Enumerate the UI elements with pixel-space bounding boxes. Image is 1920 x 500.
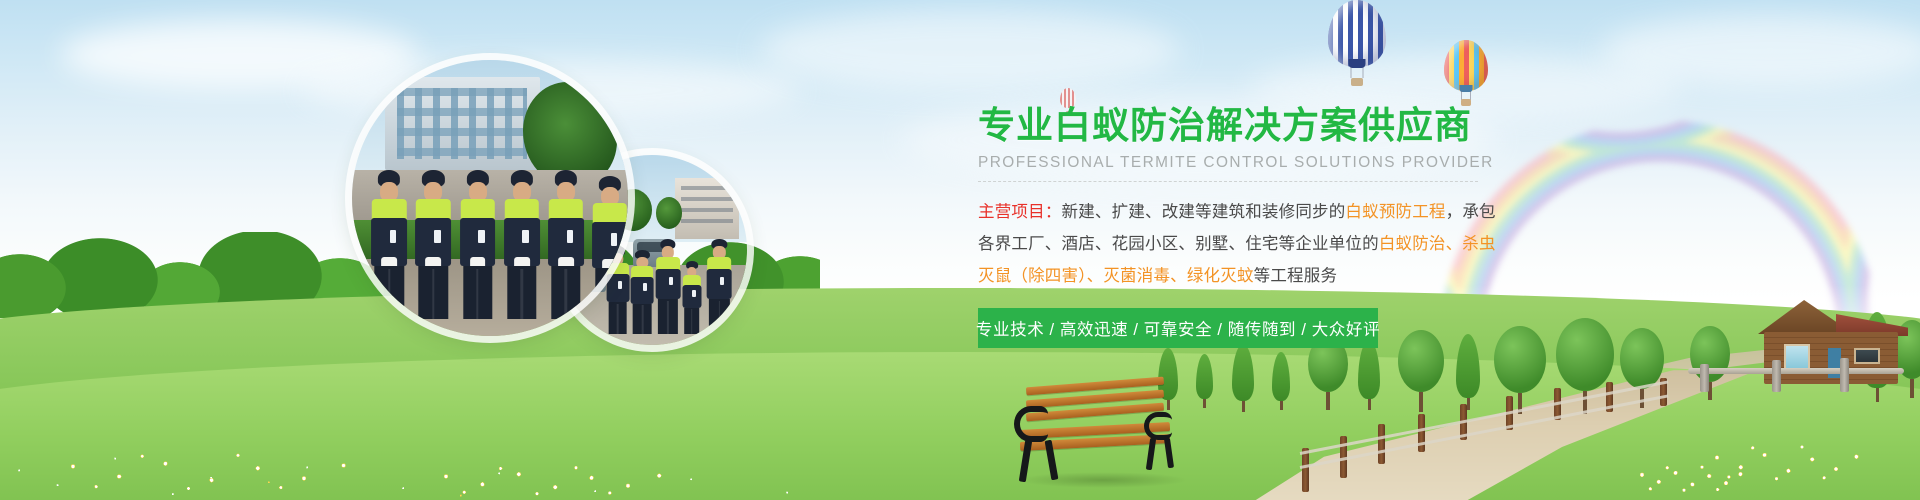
bench-leg	[1164, 438, 1174, 469]
photo-worker-figure	[548, 170, 584, 319]
tree-trunk	[1167, 400, 1170, 410]
meadow-daisy-texture	[0, 352, 1920, 500]
balloon-neck	[1349, 59, 1366, 68]
bench-armrest-left	[1014, 406, 1048, 442]
description-text-1b: ，承包	[1446, 203, 1496, 221]
banner-subtitle-english: PROFESSIONAL TERMITE CONTROL SOLUTIONS P…	[978, 154, 1498, 172]
tree-trunk	[1518, 393, 1522, 414]
fence-rail	[1300, 380, 1669, 454]
description-highlight-1a: 白蚁预防工程	[1345, 203, 1445, 221]
worker-badge	[643, 283, 647, 291]
cabin-window-large	[1784, 344, 1810, 374]
bench-leg	[1045, 440, 1059, 481]
bench-backrest-slat	[1026, 377, 1164, 396]
description-line-3: 灭鼠（除四害）、灭菌消毒、绿化灭蚊等工程服务	[978, 260, 1498, 292]
garden-path-far	[1590, 334, 1920, 394]
round-tree	[1894, 320, 1920, 398]
tree-trunk	[1242, 401, 1245, 412]
tree-crown	[1196, 354, 1213, 399]
team-lineup-photo	[352, 60, 628, 336]
bench-seat-slat	[1020, 422, 1170, 439]
tree-crown	[1358, 340, 1380, 399]
tree-crown	[1158, 348, 1178, 400]
photo-collage	[352, 60, 772, 390]
title-divider	[978, 181, 1478, 182]
description-text-3a: 等工程服务	[1254, 267, 1338, 285]
tree-trunk	[1583, 391, 1587, 414]
tree-crown	[1494, 326, 1546, 393]
meadow-hill-back	[0, 288, 1920, 438]
bench-leg	[1146, 438, 1156, 471]
worker-badge	[522, 230, 528, 243]
daisy-flower-patch	[40, 448, 370, 494]
hot-air-balloon-multicolor-icon	[1444, 40, 1488, 106]
worker-badge	[720, 277, 724, 286]
tree-crown	[1620, 328, 1664, 389]
daisy-flower-patch	[1700, 440, 1870, 484]
tree-crown	[1862, 312, 1892, 388]
cabin-window-small	[1854, 348, 1880, 364]
balloon-neck	[1460, 85, 1473, 92]
worker-badge	[669, 277, 673, 286]
balloon-rope	[1351, 67, 1364, 78]
round-tree	[1620, 328, 1664, 408]
worker-legs	[633, 304, 652, 334]
bench-leg	[1019, 440, 1032, 483]
balloon-envelope	[1328, 0, 1386, 67]
main-projects-label: 主营项目	[978, 203, 1045, 221]
cabin-roof-side	[1836, 314, 1908, 336]
photo-worker-figure	[656, 239, 681, 334]
tree-crown	[1272, 352, 1290, 401]
worker-badge	[692, 290, 695, 296]
banner-title-chinese: 专业白蚁防治解决方案供应商	[978, 104, 1498, 148]
cloud-shape	[760, 10, 1180, 90]
photo-office-building	[385, 77, 540, 171]
garden-path	[1240, 370, 1920, 500]
banner-text-block: 专业白蚁防治解决方案供应商 PROFESSIONAL TERMITE CONTR…	[978, 104, 1498, 348]
description-highlight-3a: 灭鼠（除四害）、灭菌消毒、绿化灭蚊	[978, 267, 1254, 285]
tree-trunk	[1203, 399, 1206, 408]
tree-trunk	[1876, 388, 1879, 402]
description-text-1a: 新建、扩建、改建等建筑和装修同步的	[1062, 203, 1346, 221]
stone-fence-post	[1840, 358, 1849, 392]
fence-post	[1302, 448, 1309, 492]
cypress-tree	[1358, 340, 1380, 410]
photo-worker-figure	[682, 261, 701, 333]
photo-worker-figure	[707, 239, 732, 334]
cypress-tree	[1232, 344, 1254, 412]
photo-worker-figure	[460, 170, 496, 319]
fence-rail	[1300, 394, 1669, 468]
tree-trunk	[1640, 389, 1644, 408]
worker-legs	[709, 299, 729, 333]
fence-post	[1418, 414, 1425, 452]
worker-legs	[595, 268, 624, 320]
worker-badge	[611, 233, 617, 246]
fence-post	[1606, 382, 1613, 412]
fence-post	[1460, 404, 1467, 440]
worker-badge	[567, 230, 573, 243]
worker-badge	[434, 230, 440, 243]
tree-crown	[1690, 326, 1730, 382]
balloon-basket	[1351, 78, 1363, 86]
banner-description: 主营项目：新建、扩建、改建等建筑和装修同步的白蚁预防工程，承包 各界工厂、酒店、…	[978, 196, 1498, 292]
tagline-text: 专业技术 / 高效迅速 / 可靠安全 / 随传随到 / 大众好评	[976, 316, 1380, 340]
daisy-flower-patch	[420, 462, 680, 498]
tree-crown	[1232, 344, 1254, 401]
balloon-envelope	[1444, 40, 1488, 91]
worker-badge	[478, 230, 484, 243]
description-line-2: 各界工厂、酒店、花园小区、别墅、住宅等企业单位的白蚁防治、杀虫	[978, 228, 1498, 260]
round-tree	[1556, 318, 1614, 414]
cypress-tree	[1158, 348, 1178, 410]
worker-legs	[658, 299, 678, 333]
photo-worker-figure	[371, 170, 407, 319]
worker-legs	[551, 266, 580, 320]
round-tree	[1494, 326, 1546, 414]
hot-air-balloon-blue-icon	[1328, 0, 1386, 86]
worker-legs	[375, 266, 404, 320]
worker-legs	[419, 266, 448, 320]
fence-post	[1340, 436, 1347, 478]
worker-legs	[463, 266, 492, 320]
cypress-tree	[1196, 354, 1213, 408]
tree-trunk	[1326, 392, 1330, 410]
bench-shadow	[1018, 472, 1188, 488]
cloud-shape	[1600, 15, 1920, 87]
tree-trunk	[1910, 379, 1914, 398]
balloon-rope	[1461, 91, 1471, 100]
park-bench	[1008, 380, 1180, 486]
fence-post	[1378, 424, 1385, 464]
worker-legs	[507, 266, 536, 320]
stone-fence-rail	[1688, 368, 1904, 374]
worker-legs	[684, 308, 700, 334]
description-line-1: 主营项目：新建、扩建、改建等建筑和装修同步的白蚁预防工程，承包	[978, 196, 1498, 228]
photo-worker-figure	[415, 170, 451, 319]
hero-banner: 专业白蚁防治解决方案供应商 PROFESSIONAL TERMITE CONTR…	[0, 0, 1920, 500]
fence-post	[1554, 388, 1561, 420]
cabin-body	[1764, 332, 1898, 384]
cabin-roof-main	[1758, 300, 1854, 334]
round-tree	[1690, 326, 1730, 400]
description-text-2a: 各界工厂、酒店、花园小区、别墅、住宅等企业单位的	[978, 235, 1379, 253]
log-cabin-house	[1758, 300, 1908, 386]
stone-fence-post	[1700, 364, 1709, 392]
meadow-hill-front	[0, 352, 1920, 500]
stone-fence-post	[1772, 360, 1781, 392]
tree-trunk	[1467, 398, 1470, 410]
tree-trunk	[1708, 382, 1712, 400]
tree-crown	[1556, 318, 1614, 391]
bench-backrest-slat	[1026, 403, 1164, 422]
label-colon: ：	[1045, 203, 1062, 221]
bench-backrest-slat	[1026, 390, 1164, 409]
tree-crown	[1894, 320, 1920, 379]
tree-trunk	[1419, 392, 1423, 412]
cypress-tree	[1272, 352, 1290, 410]
tree-trunk	[1368, 399, 1371, 410]
photo-worker-figure	[504, 170, 540, 319]
bench-seat-slat	[1020, 434, 1170, 451]
tagline-banner-bar: 专业技术 / 高效迅速 / 可靠安全 / 随传随到 / 大众好评	[978, 308, 1378, 348]
fence-post	[1506, 396, 1513, 430]
photo-worker-figure	[592, 176, 628, 320]
daisy-flower-patch	[1630, 462, 1750, 494]
photo-street-building	[675, 178, 740, 239]
photo-worker-figure	[631, 250, 654, 334]
bench-armrest-right	[1144, 412, 1172, 440]
cypress-tree	[1862, 312, 1892, 402]
description-highlight-2a: 白蚁防治、杀虫	[1379, 235, 1496, 253]
cabin-door	[1828, 348, 1841, 378]
worker-badge	[390, 230, 396, 243]
tree-trunk	[1280, 401, 1283, 410]
fence-post	[1660, 378, 1667, 406]
